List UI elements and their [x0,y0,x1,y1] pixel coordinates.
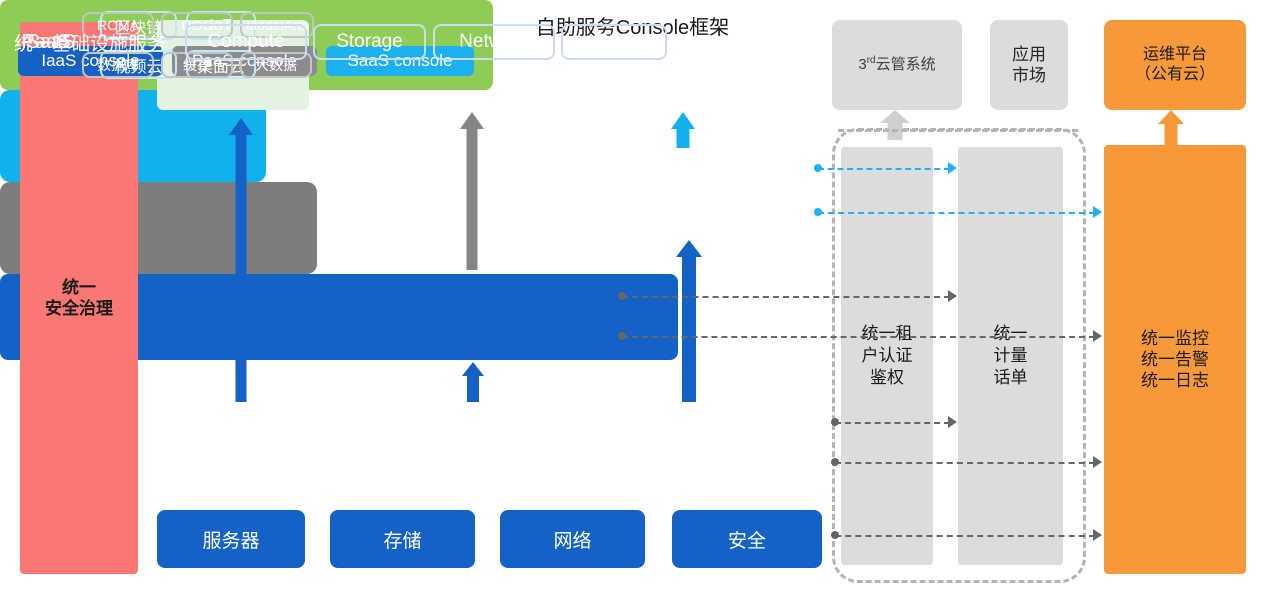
third-party-suffix: 云管系统 [876,56,936,73]
app-market-line1: 应用 [1012,44,1046,65]
infra-item-compute-label: Compute [207,31,284,53]
connector-hardware-to-ops [835,535,1095,537]
infra-item-network-label: Network [459,31,529,53]
hardware-security-label: 安全 [728,526,766,553]
app-market-box: 应用 市场 [990,20,1068,110]
infra-item-cce-label: CCE [594,31,634,53]
paas-item-database-label: 数据库 [97,55,139,75]
arrow-infra-to-saas-icon [676,240,702,402]
infra-item-storage-label: Storage [336,31,403,53]
architecture-diagram: 统一 安全治理 API网关 自助服务Console框架 IaaS console… [0,0,1265,605]
infra-item-cce: CCE [561,24,667,60]
ops-monitor-line3: 统一日志 [1141,370,1209,391]
hardware-server-label: 服务器 [202,526,259,553]
ops-platform-line2: （公有云） [1135,65,1215,85]
connector-saas-to-ops [818,212,1095,214]
connector-arrowhead-saas-ops-icon [1093,206,1102,218]
third-party-sup: rd [867,55,876,66]
connector-saas-to-auth [818,168,950,170]
infra-item-compute: Compute [185,24,307,60]
connector-paas-to-ops [622,336,1095,338]
hardware-server-box: 服务器 [157,510,305,568]
metering-line3: 话单 [994,367,1028,389]
infra-item-storage: Storage [313,24,426,60]
security-governance-panel: 统一 安全治理 [20,22,138,574]
tenant-auth-line1: 统一租 [862,323,913,345]
hardware-security-box: 安全 [672,510,822,568]
ops-monitor-line1: 统一监控 [1141,328,1209,349]
arrow-shared-to-thirdparty-icon [880,110,910,140]
arrow-ops-up-icon [1158,110,1184,150]
third-party-prefix: 3 [858,56,866,73]
infra-item-network: Network [433,24,555,60]
security-governance-line2: 安全治理 [45,298,113,319]
ops-monitor-line2: 统一告警 [1141,349,1209,370]
connector-arrowhead-infra-ops-icon [1093,456,1102,468]
app-market-line2: 市场 [1012,65,1046,86]
ops-platform-line1: 运维平台 [1135,45,1215,65]
arrow-infra-to-apigw-icon [229,118,253,402]
connector-arrowhead-saas-auth-icon [948,162,957,174]
connector-arrowhead-infra-auth-icon [948,416,957,428]
connector-infra-to-ops [835,462,1095,464]
connector-group-top-to-thirdparty [838,129,1078,132]
hardware-network-label: 网络 [553,526,591,553]
tenant-auth-column: 统一租 户认证 鉴权 [841,147,933,565]
hardware-network-box: 网络 [500,510,645,568]
connector-paas-to-auth [622,296,950,298]
ops-platform-box: 运维平台 （公有云） [1104,20,1246,110]
arrow-saas-to-console-icon [671,112,695,148]
connector-infra-to-auth [835,422,950,424]
tenant-auth-line2: 户认证 [862,345,913,367]
hardware-storage-label: 存储 [383,526,421,553]
security-governance-line1: 统一 [45,277,113,298]
arrow-paas-to-console-icon [460,112,484,270]
connector-arrowhead-hardware-ops-icon [1093,529,1102,541]
third-party-cloud-box: 3rd云管系统 [832,20,962,110]
connector-arrowhead-paas-ops-icon [1093,330,1102,342]
infrastructure-label: 统一基础设施服务 [14,29,166,56]
tenant-auth-line3: 鉴权 [862,367,913,389]
metering-billing-column: 统一 计量 话单 [958,147,1063,565]
arrow-infra-to-paas-icon [462,362,484,402]
metering-line2: 计量 [994,345,1028,367]
ops-monitoring-panel: 统一监控 统一告警 统一日志 [1104,145,1246,574]
connector-arrowhead-paas-auth-icon [948,290,957,302]
hardware-storage-box: 存储 [330,510,475,568]
metering-line1: 统一 [994,323,1028,345]
